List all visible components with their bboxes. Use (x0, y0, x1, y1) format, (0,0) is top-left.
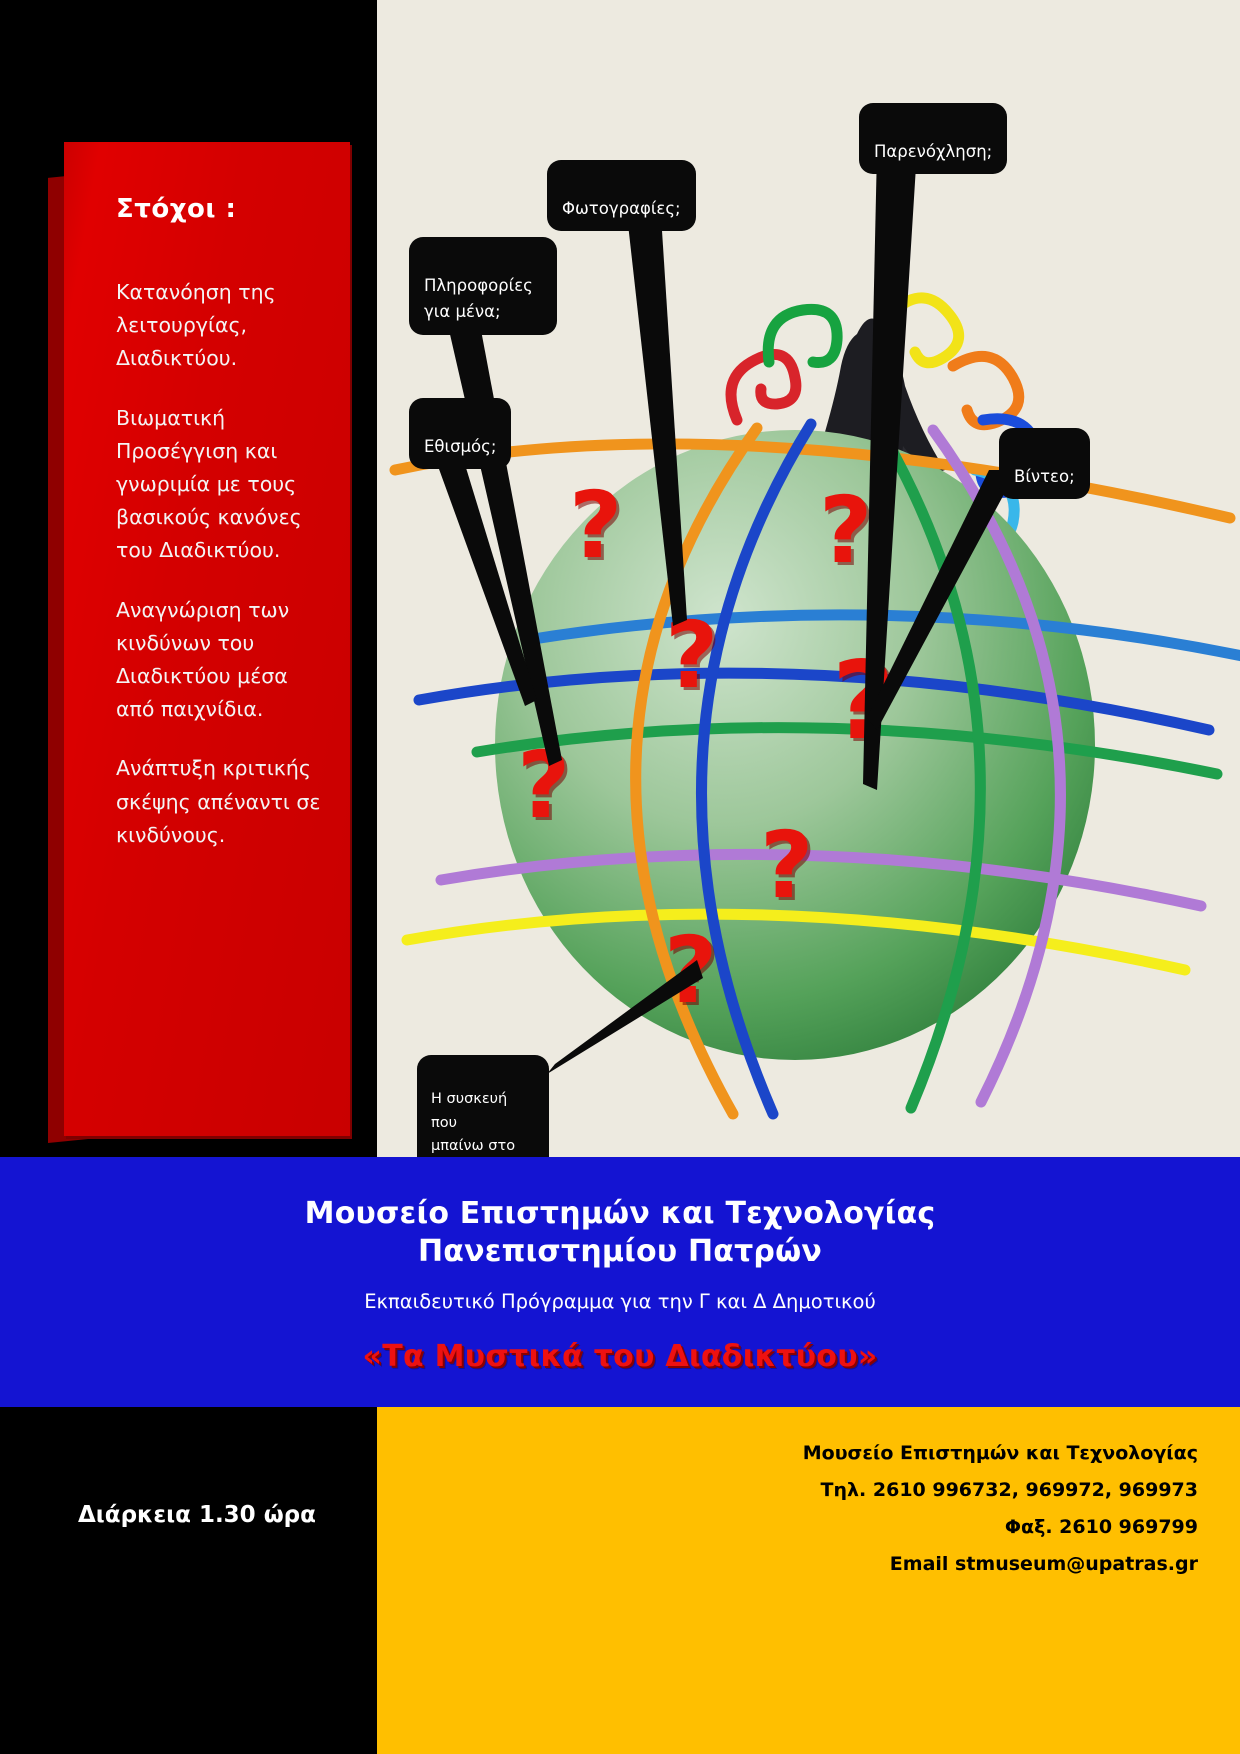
objectives-card: Στόχοι : Κατανόηση της λειτουργίας, Διαδ… (64, 142, 350, 1136)
callout-text: Βίντεο; (1014, 467, 1075, 486)
objective-item-1: Κατανόηση της λειτουργίας, Διαδικτύου. (116, 276, 324, 376)
contact-email[interactable]: Email stmuseum@upatras.gr (377, 1546, 1198, 1583)
contact-phone: Τηλ. 2610 996732, 969972, 969973 (377, 1472, 1198, 1509)
museum-title: Μουσείο Επιστημών και Τεχνολογίας Πανεπι… (0, 1157, 1240, 1272)
callout-photos[interactable]: Φωτογραφίες; (547, 160, 696, 231)
duration-label: Διάρκεια 1.30 ώρα (78, 1502, 316, 1528)
callout-device[interactable]: Η συσκευή που μπαίνω στο Διαδίκτυο; (417, 1055, 549, 1157)
callout-addiction[interactable]: Εθισμός; (409, 398, 511, 469)
museum-title-line2: Πανεπιστημίου Πατρών (0, 1233, 1240, 1271)
callout-information-about-me[interactable]: Πληροφορίες για μένα; (409, 237, 557, 335)
callout-stems (377, 0, 1240, 1157)
objectives-title: Στόχοι : (116, 194, 324, 224)
program-description: Εκπαιδευτικό Πρόγραμμα για την Γ και Δ Δ… (0, 1290, 1240, 1313)
contact-fax: Φαξ. 2610 969799 (377, 1509, 1198, 1546)
objective-item-4: Ανάπτυξη κριτικής σκέψης απέναντι σε κιν… (116, 752, 324, 852)
callout-video[interactable]: Βίντεο; (999, 428, 1090, 499)
callout-text: Η συσκευή που μπαίνω στο Διαδίκτυο; (431, 1091, 515, 1157)
callout-text: Πληροφορίες για μένα; (424, 276, 533, 322)
callout-harassment[interactable]: Παρενόχληση; (859, 103, 1007, 174)
footer-blue-band: Μουσείο Επιστημών και Τεχνολογίας Πανεπι… (0, 1157, 1240, 1407)
callout-text: Φωτογραφίες; (562, 199, 681, 218)
bottom-strip: Διάρκεια 1.30 ώρα Μουσείο Επιστημών και … (0, 1407, 1240, 1754)
objective-item-3: Αναγνώριση των κινδύνων του Διαδικτύου μ… (116, 594, 324, 727)
program-title: «Τα Μυστικά του Διαδικτύου» (0, 1339, 1240, 1374)
objective-item-2: Βιωματική Προσέγγιση και γνωριμία με του… (116, 402, 324, 568)
museum-title-line1: Μουσείο Επιστημών και Τεχνολογίας (0, 1195, 1240, 1233)
contact-name: Μουσείο Επιστημών και Τεχνολογίας (377, 1435, 1198, 1472)
poster-root: ? ? ? ? ? ? ? Πληροφορίες για μένα; Φωτο… (0, 0, 1240, 1754)
contact-box: Μουσείο Επιστημών και Τεχνολογίας Τηλ. 2… (377, 1407, 1240, 1754)
callout-text: Εθισμός; (424, 437, 496, 456)
callout-text: Παρενόχληση; (874, 142, 992, 161)
illustration-panel: ? ? ? ? ? ? ? Πληροφορίες για μένα; Φωτο… (377, 0, 1240, 1157)
